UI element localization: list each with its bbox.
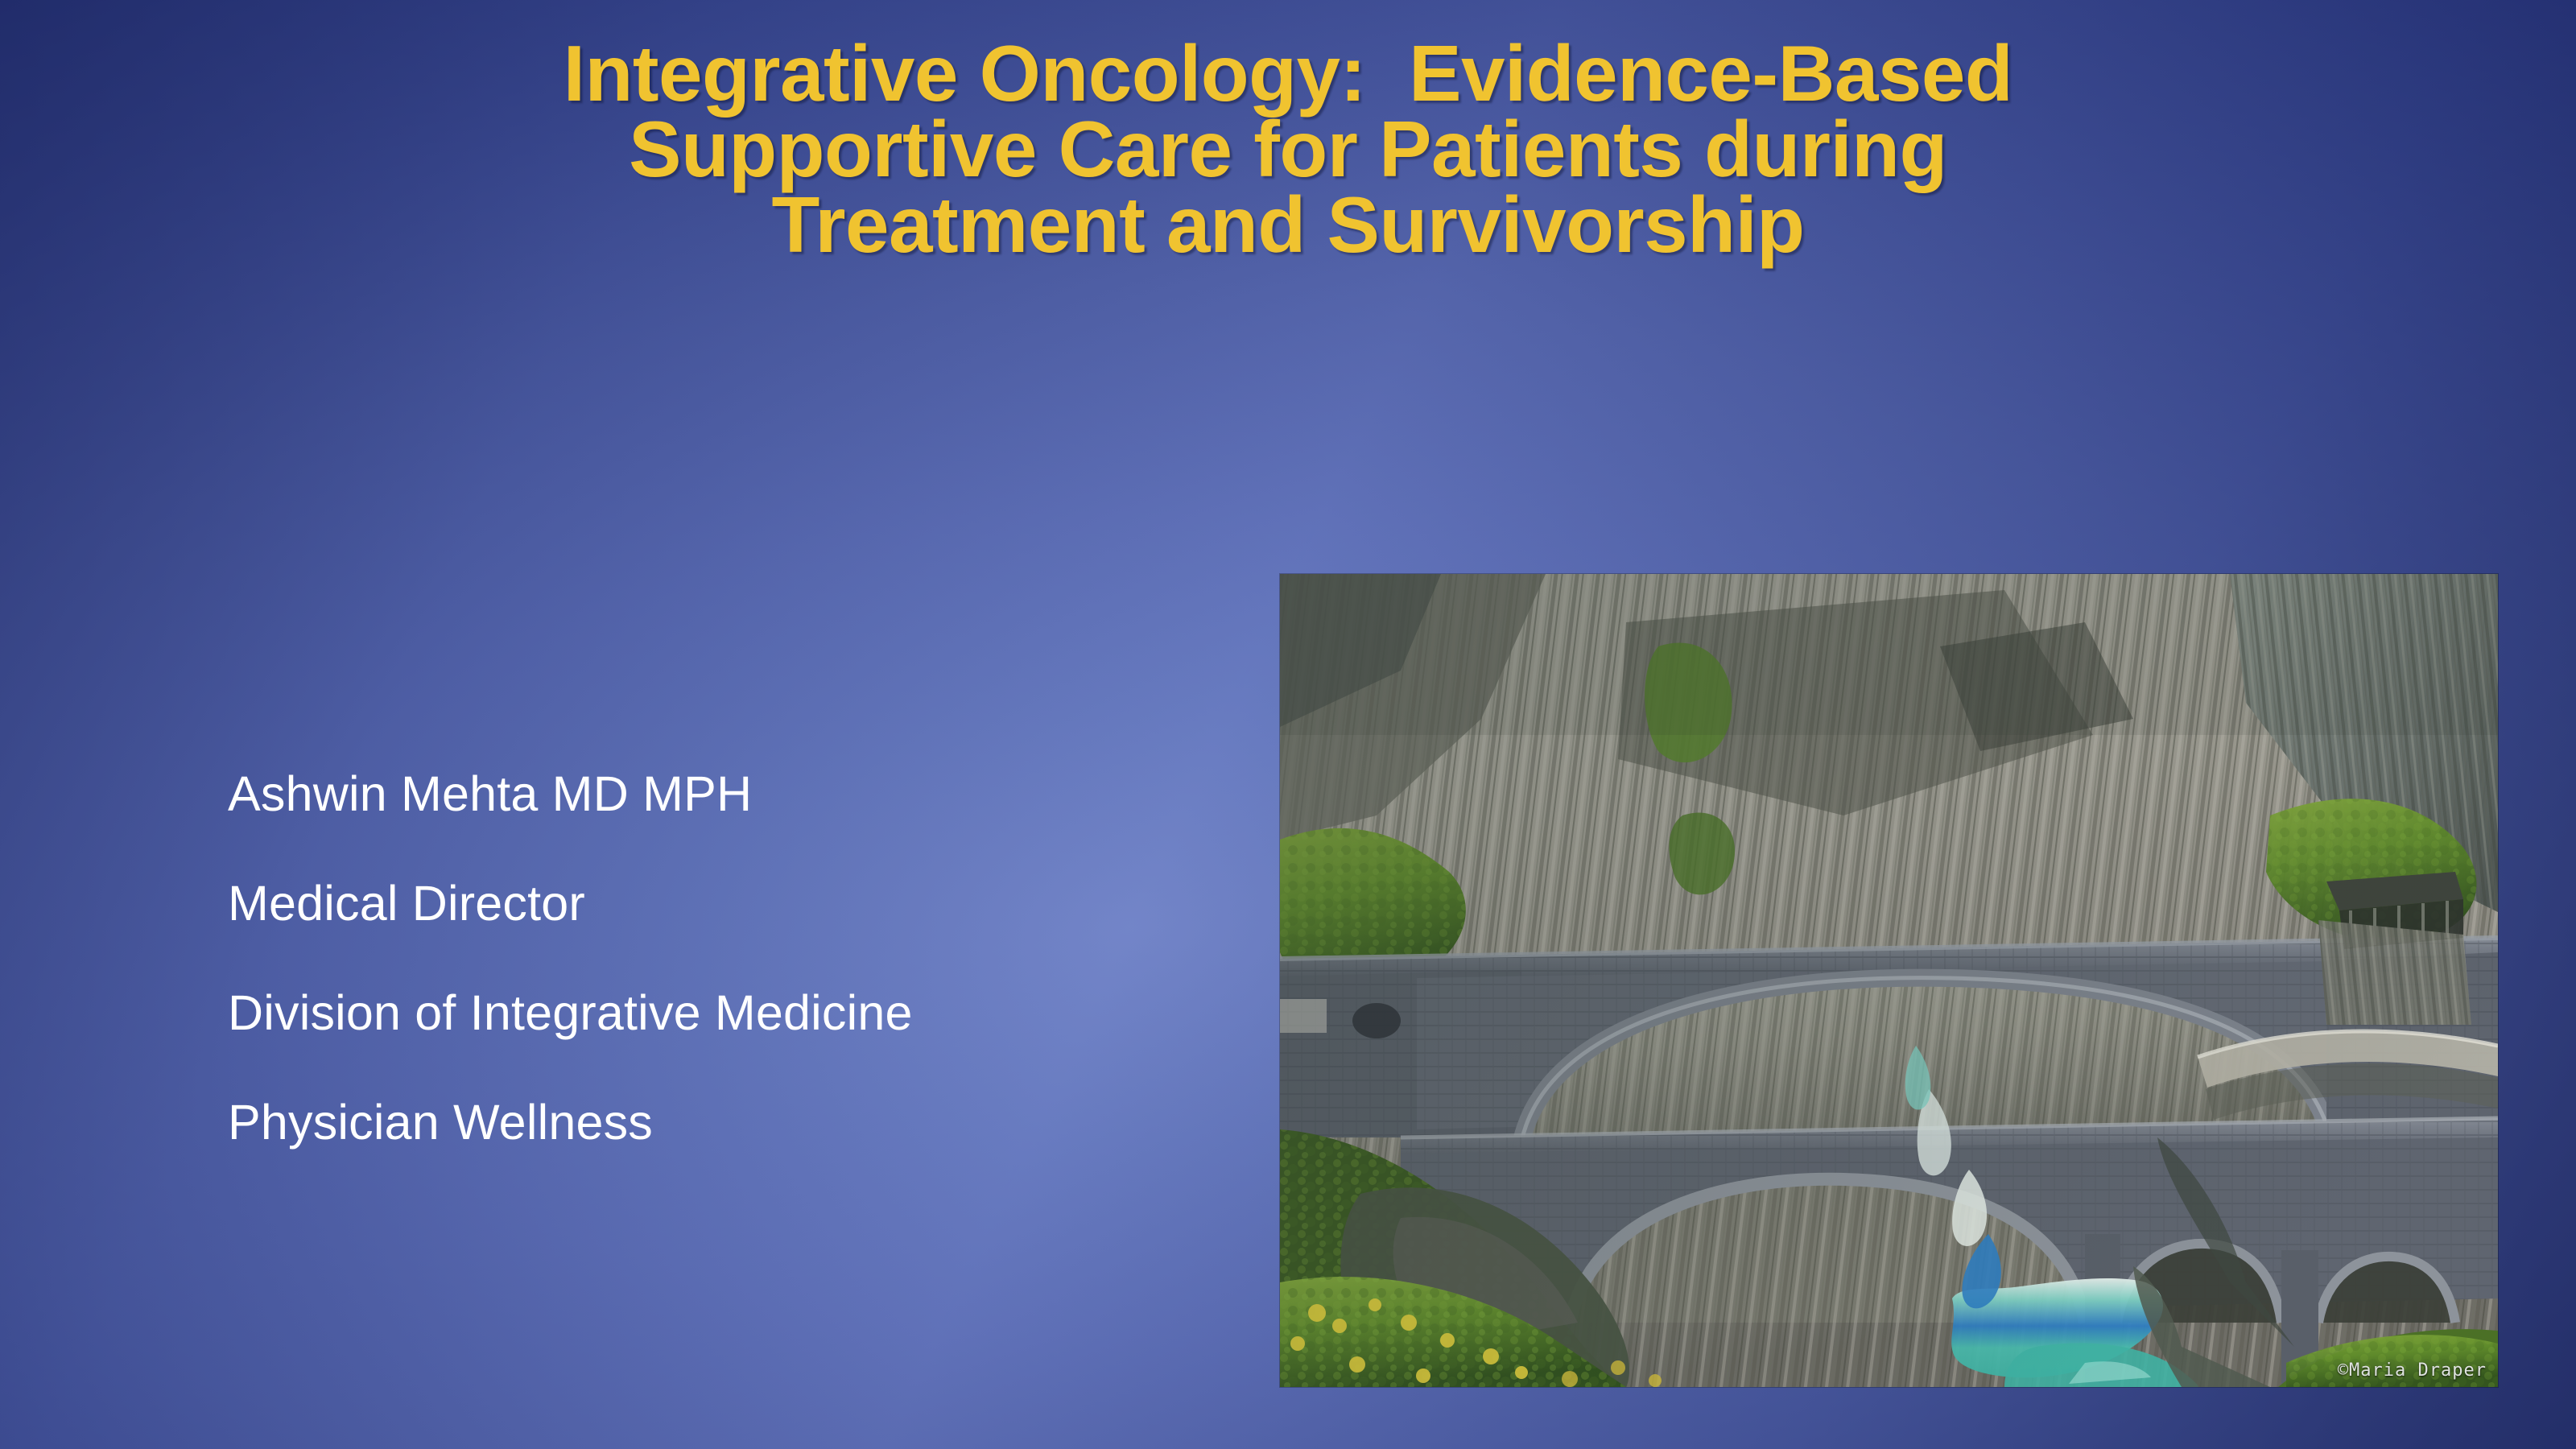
title-line-2: Supportive Care for Patients during (105, 111, 2471, 187)
page-title: Integrative Oncology: Evidence-Based Sup… (105, 35, 2471, 262)
slide-photo: ©Maria Draper (1280, 574, 2498, 1387)
presenter-role: Medical Director (228, 848, 913, 958)
presenter-division: Division of Integrative Medicine (228, 958, 913, 1067)
presenter-program: Physician Wellness (228, 1067, 913, 1177)
presenter-name: Ashwin Mehta MD MPH (228, 739, 913, 848)
title-line-3: Treatment and Survivorship (105, 187, 2471, 262)
presenter-info-block: Ashwin Mehta MD MPH Medical Director Div… (228, 739, 913, 1177)
gorge-bridge-illustration (1280, 574, 2498, 1387)
presentation-slide: Integrative Oncology: Evidence-Based Sup… (0, 0, 2576, 1449)
photo-watermark: ©Maria Draper (2338, 1360, 2487, 1381)
title-line-1: Integrative Oncology: Evidence-Based (105, 35, 2471, 111)
